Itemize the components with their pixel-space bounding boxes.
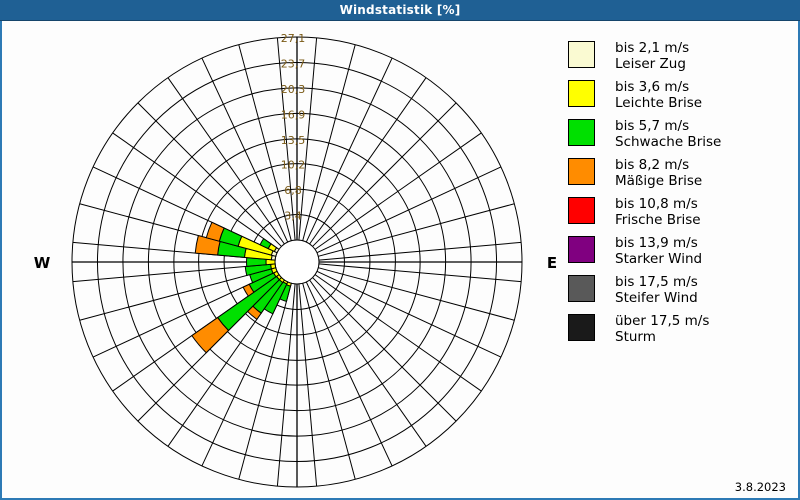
legend-swatch xyxy=(568,41,595,68)
grid-spoke xyxy=(306,282,392,466)
legend-name: Mäßige Brise xyxy=(615,173,702,189)
legend-label: bis 13,9 m/s Starker Wind xyxy=(615,235,702,267)
legend-name: Leiser Zug xyxy=(615,56,689,72)
legend-label: bis 8,2 m/s Mäßige Brise xyxy=(615,157,702,189)
legend-range: bis 5,7 m/s xyxy=(615,118,721,134)
legend-label: bis 2,1 m/s Leiser Zug xyxy=(615,40,689,72)
polar-grid xyxy=(72,37,522,487)
legend-swatch xyxy=(568,80,595,107)
compass-label-north: N xyxy=(291,21,304,25)
legend-range: bis 3,6 m/s xyxy=(615,79,702,95)
legend-name: Leichte Brise xyxy=(615,95,702,111)
title-bar: Windstatistik [%] xyxy=(0,0,800,21)
legend-range: über 17,5 m/s xyxy=(615,313,709,329)
radial-tick-label: 13,5 xyxy=(281,134,306,147)
legend-range: bis 10,8 m/s xyxy=(615,196,701,212)
legend-item[interactable]: bis 8,2 m/s Mäßige Brise xyxy=(568,157,798,189)
legend-name: Steifer Wind xyxy=(615,290,698,306)
legend-label: bis 17,5 m/s Steifer Wind xyxy=(615,274,698,306)
radial-tick-label: 23,7 xyxy=(281,57,306,70)
legend-swatch xyxy=(568,275,595,302)
legend-name: Sturm xyxy=(615,329,709,345)
legend-item[interactable]: bis 3,6 m/s Leichte Brise xyxy=(568,79,798,111)
window-title: Windstatistik [%] xyxy=(0,0,800,20)
legend-item[interactable]: über 17,5 m/s Sturm xyxy=(568,313,798,345)
legend-swatch xyxy=(568,119,595,146)
windrose-svg: 3,46,810,213,516,920,323,727,1NSEW xyxy=(0,21,565,500)
legend-label: bis 5,7 m/s Schwache Brise xyxy=(615,118,721,150)
legend-swatch xyxy=(568,197,595,224)
legend-name: Starker Wind xyxy=(615,251,702,267)
legend-swatch xyxy=(568,314,595,341)
windrose-window: Windstatistik [%] 3,46,810,213,516,920,3… xyxy=(0,0,800,500)
legend-name: Frische Brise xyxy=(615,212,701,228)
grid-spoke xyxy=(306,58,392,242)
radial-tick-label: 10,2 xyxy=(281,159,306,172)
legend-name: Schwache Brise xyxy=(615,134,721,150)
legend-swatch xyxy=(568,236,595,263)
legend-item[interactable]: bis 13,9 m/s Starker Wind xyxy=(568,235,798,267)
windrose-plot: 3,46,810,213,516,920,323,727,1NSEW xyxy=(0,21,565,500)
legend-label: über 17,5 m/s Sturm xyxy=(615,313,709,345)
legend-swatch xyxy=(568,158,595,185)
legend-label: bis 3,6 m/s Leichte Brise xyxy=(615,79,702,111)
radial-tick-label: 6,8 xyxy=(284,184,302,197)
compass-label-west: W xyxy=(34,254,51,272)
radial-tick-label: 27,1 xyxy=(281,32,306,45)
legend-item[interactable]: bis 2,1 m/s Leiser Zug xyxy=(568,40,798,72)
legend: bis 2,1 m/s Leiser Zug bis 3,6 m/s Leich… xyxy=(568,40,798,352)
radial-tick-label: 3,4 xyxy=(284,210,302,223)
legend-item[interactable]: bis 17,5 m/s Steifer Wind xyxy=(568,274,798,306)
legend-item[interactable]: bis 10,8 m/s Frische Brise xyxy=(568,196,798,228)
legend-label: bis 10,8 m/s Frische Brise xyxy=(615,196,701,228)
legend-range: bis 17,5 m/s xyxy=(615,274,698,290)
grid-spoke xyxy=(317,271,501,357)
grid-spoke xyxy=(202,58,288,242)
radial-tick-label: 16,9 xyxy=(281,108,306,121)
legend-item[interactable]: bis 5,7 m/s Schwache Brise xyxy=(568,118,798,150)
legend-range: bis 8,2 m/s xyxy=(615,157,702,173)
radial-tick-label: 20,3 xyxy=(281,83,306,96)
grid-spoke xyxy=(317,167,501,253)
compass-label-east: E xyxy=(547,254,557,272)
date-stamp: 3.8.2023 xyxy=(735,480,786,494)
legend-range: bis 2,1 m/s xyxy=(615,40,689,56)
legend-range: bis 13,9 m/s xyxy=(615,235,702,251)
